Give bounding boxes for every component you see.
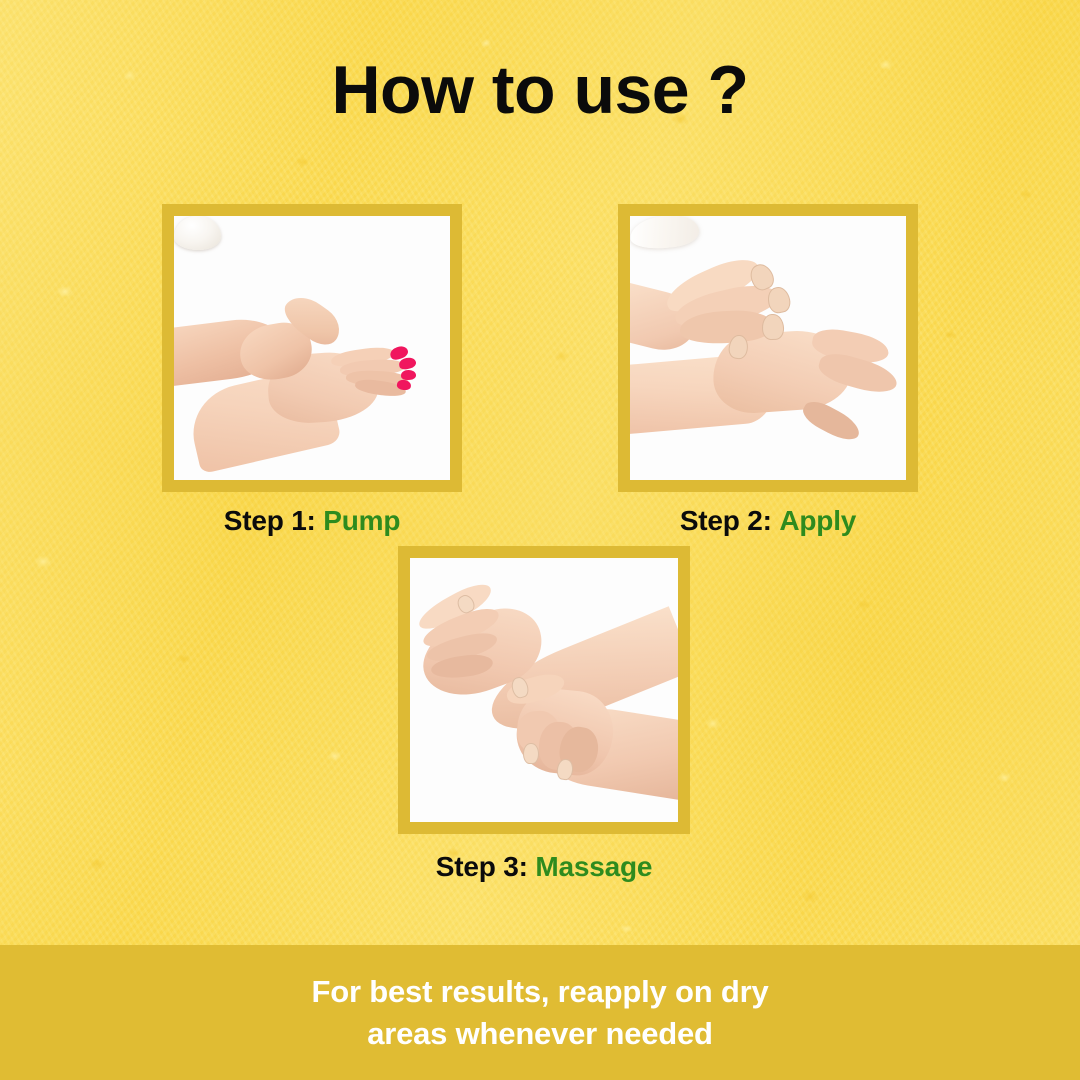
step-3-action: Massage (535, 851, 652, 882)
step-1-photo-frame (162, 204, 462, 492)
pink-nail-shape (398, 356, 417, 371)
step-1-prefix: Step 1: (224, 505, 316, 536)
palm-fingers-group (329, 332, 439, 401)
step-3-caption: Step 3: Massage (398, 851, 690, 883)
how-to-use-poster: How to use ? Step 1: Pump (0, 0, 1080, 1080)
cream-smear (630, 216, 700, 251)
step-2-action: Apply (779, 505, 856, 536)
footer-banner: For best results, reapply on dry areas w… (0, 945, 1080, 1080)
step-3-photo-frame (398, 546, 690, 834)
page-title: How to use ? (0, 52, 1080, 128)
footer-line-2: areas whenever needed (367, 1013, 713, 1055)
step-3-photo (410, 558, 678, 822)
footer-line-1: For best results, reapply on dry (312, 971, 769, 1013)
nude-nail-shape (762, 313, 785, 340)
step-2-photo-frame (618, 204, 918, 492)
nude-nail-shape (765, 285, 792, 315)
pale-nail-shape (523, 743, 539, 764)
step-2-prefix: Step 2: (680, 505, 772, 536)
step-1-caption: Step 1: Pump (162, 505, 462, 537)
cream-dollop (174, 216, 221, 250)
pink-nail-shape (397, 379, 412, 390)
step-2-caption: Step 2: Apply (618, 505, 918, 537)
step-2-photo (630, 216, 906, 480)
step-1-action: Pump (323, 505, 400, 536)
step-3-prefix: Step 3: (436, 851, 528, 882)
textured-yellow-background (0, 0, 1080, 1080)
step-1-photo (174, 216, 450, 480)
